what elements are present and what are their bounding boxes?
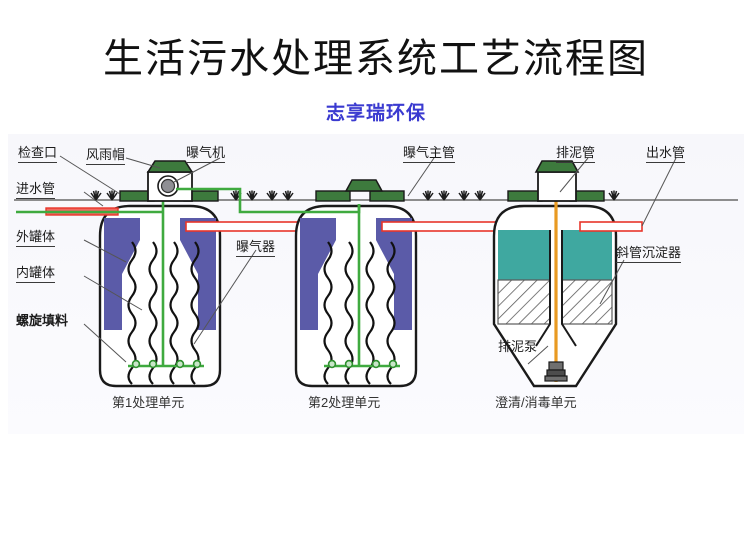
manhole-housing-3 bbox=[538, 172, 576, 201]
label-diffuser: 曝气器 bbox=[236, 236, 275, 257]
caption-unit-1: 第1处理单元 bbox=[112, 392, 184, 411]
diagram-svg bbox=[8, 134, 744, 434]
label-tube-settler: 斜管沉淀器 bbox=[616, 242, 681, 263]
rain-cap-2 bbox=[346, 180, 382, 191]
tube-settler-left bbox=[498, 280, 550, 324]
label-inner-tank: 内罐体 bbox=[16, 262, 55, 283]
page-subtitle: 志享瑞环保 bbox=[0, 98, 752, 125]
access-plate-2a bbox=[316, 191, 350, 201]
label-aerator-blower: 曝气机 bbox=[186, 142, 225, 163]
slide-page: 生活污水处理系统工艺流程图 志享瑞环保 bbox=[0, 0, 752, 557]
page-title: 生活污水处理系统工艺流程图 bbox=[0, 26, 752, 84]
caption-unit-2: 第2处理单元 bbox=[308, 392, 380, 411]
outlet-pipe-3 bbox=[580, 222, 642, 231]
label-spiral-filler: 螺旋填料 bbox=[16, 310, 68, 329]
process-flow-diagram: 检查口 风雨帽 曝气机 曝气主管 排泥管 出水管 进水管 外罐体 内罐体 螺旋填… bbox=[8, 134, 744, 434]
label-outlet-pipe: 出水管 bbox=[646, 142, 685, 163]
blower-wheel-1 bbox=[162, 180, 175, 193]
access-plate-2b bbox=[370, 191, 404, 201]
label-outer-tank: 外罐体 bbox=[16, 226, 55, 247]
transfer-pipe-1-2 bbox=[186, 222, 312, 231]
label-inlet-pipe: 进水管 bbox=[16, 178, 55, 199]
label-aeration-main-pipe: 曝气主管 bbox=[403, 142, 455, 163]
label-sludge-discharge-pipe: 排泥管 bbox=[556, 142, 595, 163]
label-inspection-port: 检查口 bbox=[18, 142, 57, 163]
label-sludge-pump: 排泥泵 bbox=[498, 336, 537, 355]
water-zone-3-right bbox=[562, 230, 612, 280]
label-rain-cap: 风雨帽 bbox=[86, 144, 125, 165]
tube-settler-right bbox=[562, 280, 612, 324]
caption-unit-3: 澄清/消毒单元 bbox=[495, 392, 577, 411]
access-plate-3a bbox=[508, 191, 542, 201]
water-zone-3-left bbox=[498, 230, 550, 280]
